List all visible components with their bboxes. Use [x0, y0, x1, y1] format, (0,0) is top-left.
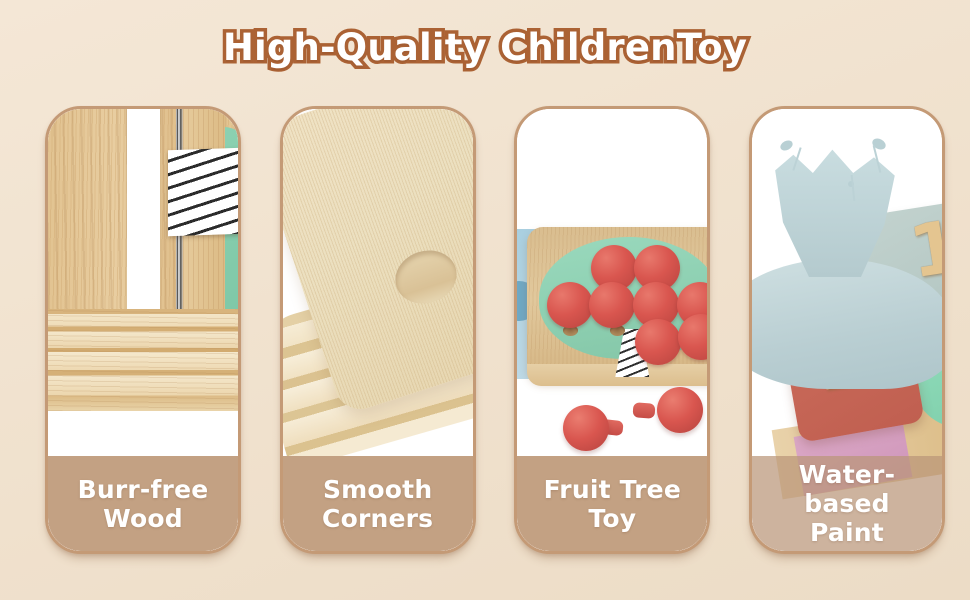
feature-card-burr-free-wood: Burr-free Wood	[45, 106, 241, 554]
white-gap	[127, 109, 160, 323]
plywood-layer-edge	[48, 309, 238, 411]
product-feature-banner: High-Quality ChildrenToy Burr-free Wood	[0, 0, 970, 600]
feature-card-smooth-corners: Smooth Corners	[280, 106, 476, 554]
striped-texture-card	[168, 148, 238, 237]
card-label-text: Water-based Paint	[752, 460, 942, 547]
card-inner: Smooth Corners	[283, 109, 473, 551]
card-inner: Fruit Tree Toy	[517, 109, 707, 551]
card-label-bar: Water-based Paint	[752, 456, 942, 551]
card-label-text: Fruit Tree Toy	[538, 475, 687, 533]
card-label-text: Burr-free Wood	[72, 475, 215, 533]
card-label-bar: Fruit Tree Toy	[517, 456, 707, 551]
peg-head	[563, 405, 609, 451]
page-title: High-Quality ChildrenToy	[223, 26, 747, 69]
card-inner: Burr-free Wood	[48, 109, 238, 551]
card-label-bar: Burr-free Wood	[48, 456, 238, 551]
paint-splash-pool	[752, 259, 942, 389]
apple-peg	[547, 282, 593, 328]
feature-card-row: Burr-free Wood Smooth Corners	[45, 106, 945, 556]
card-label-bar: Smooth Corners	[283, 456, 473, 551]
apple-peg	[589, 282, 635, 328]
banner-title-wrap: High-Quality ChildrenToy	[0, 26, 970, 69]
peg-head	[657, 387, 703, 433]
card-label-text: Smooth Corners	[316, 475, 439, 533]
feature-card-water-based-paint: 1 2 Water-based Paint	[749, 106, 945, 554]
peg-stem	[633, 402, 656, 418]
apple-peg	[635, 319, 681, 365]
feature-card-fruit-tree-toy: Fruit Tree Toy	[514, 106, 710, 554]
card-inner: 1 2 Water-based Paint	[752, 109, 942, 551]
